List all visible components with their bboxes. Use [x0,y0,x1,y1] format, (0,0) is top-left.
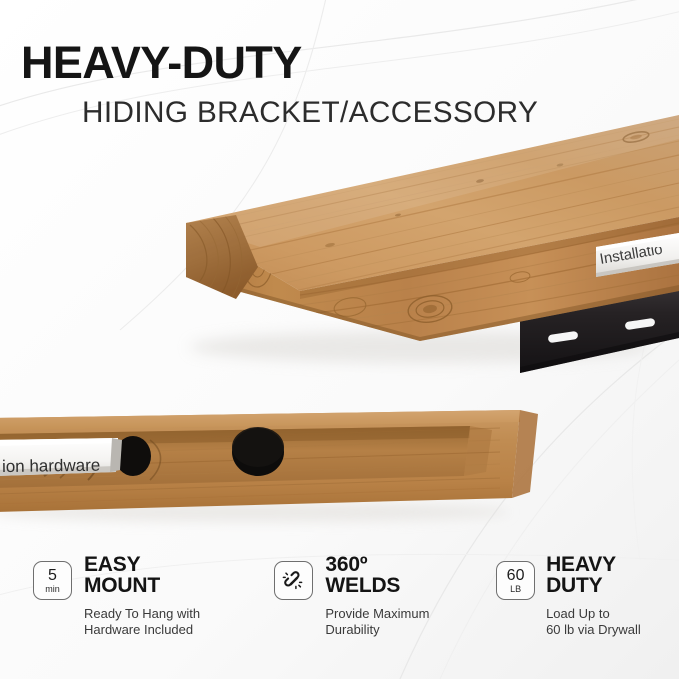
five-minute-badge: 5 min [33,561,72,600]
hero-shelf-image [0,95,679,385]
chain-weld-icon [274,561,313,600]
feature-desc-line2: Durability [325,622,429,638]
feature-360-welds: 360º WELDS Provide Maximum Durability [254,548,476,666]
feature-title-line2: WELDS [325,575,429,596]
badge-value: 60 [507,568,525,583]
feature-title-line1: EASY [84,554,200,575]
sixty-pound-badge: 60 LB [496,561,535,600]
sticker-label-upper: Installatio [600,247,679,273]
chain-weld-glyph [282,569,306,593]
feature-desc-line1: Load Up to [546,606,641,622]
feature-easy-mount: 5 min EASY MOUNT Ready To Hang with Hard… [0,548,254,666]
feature-heavy-duty: 60 LB HEAVY DUTY Load Up to 60 lb via Dr… [476,548,679,666]
page-title: HEAVY-DUTY [21,40,302,86]
feature-title-line2: DUTY [546,575,641,596]
feature-desc-line1: Provide Maximum [325,606,429,622]
feature-desc-line2: Hardware Included [84,622,200,638]
sticker-label-lower: ion hardware [2,452,118,482]
feature-list: 5 min EASY MOUNT Ready To Hang with Hard… [0,548,679,666]
feature-desc-line1: Ready To Hang with [84,606,200,622]
badge-value: 5 [48,568,57,583]
feature-title-line2: MOUNT [84,575,200,596]
badge-unit: LB [510,584,521,594]
feature-title-line1: 360º [325,554,429,575]
feature-desc-line2: 60 lb via Drywall [546,622,641,638]
feature-title-line1: HEAVY [546,554,641,575]
product-marketing-image: HEAVY-DUTY HIDING BRACKET/ACCESSORY [0,0,679,679]
badge-unit: min [45,584,60,594]
